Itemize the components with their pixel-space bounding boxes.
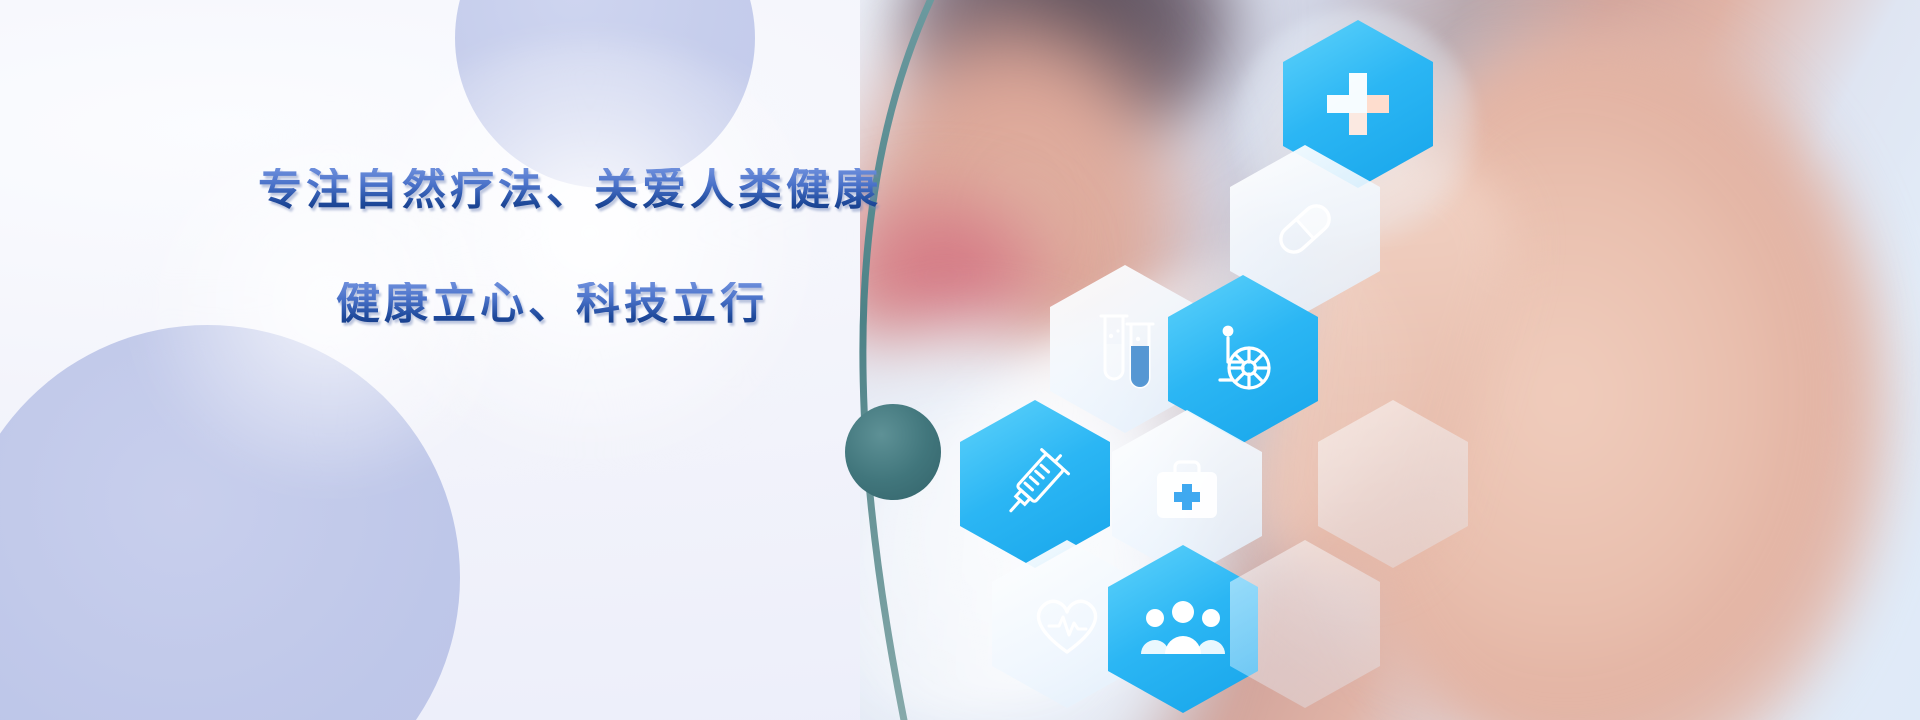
hex-tile-empty-bottom [1230,540,1380,708]
medical-cross-icon [1321,67,1395,141]
capsule-pill-icon [1263,187,1347,271]
teal-arc-divider [790,0,1030,720]
headline-line-2: 健康立心、科技立行 [336,282,900,326]
hexagon-icon-cluster [900,0,1920,720]
people-group-icon [1140,598,1226,660]
hex-tile-empty-right [1318,400,1468,568]
test-tubes-icon [1085,306,1165,392]
heart-icon [1027,588,1107,660]
headline-block: 专注自然疗法、关爱人类健康 健康立心、科技立行 [0,168,900,326]
lavender-circle-top [455,0,755,188]
wheelchair-icon [1202,318,1284,400]
lavender-circle-bottom [0,325,460,720]
hero-banner: 专注自然疗法、关爱人类健康 健康立心、科技立行 [0,0,1920,720]
first-aid-kit-icon [1147,456,1227,532]
headline-line-1: 专注自然疗法、关爱人类健康 [258,168,900,212]
teal-circle-node [845,404,941,500]
